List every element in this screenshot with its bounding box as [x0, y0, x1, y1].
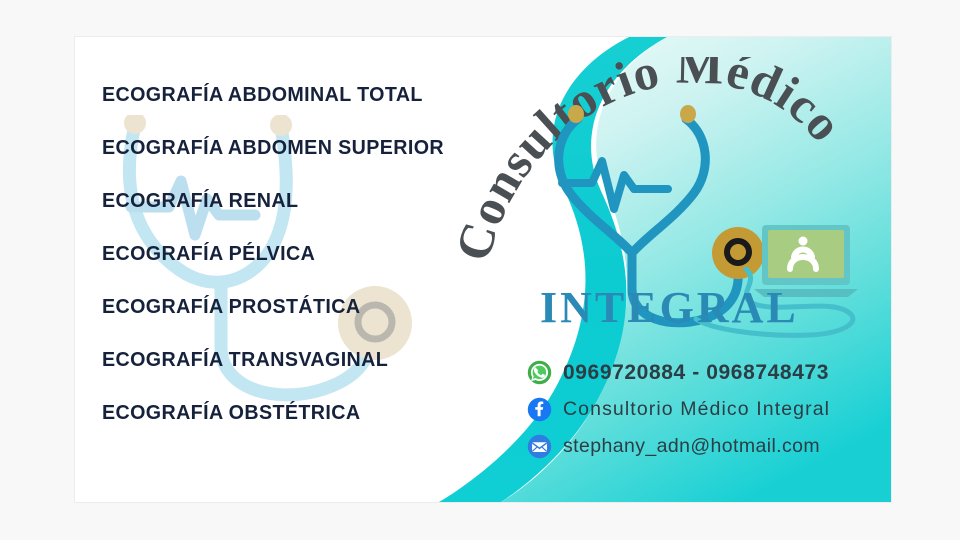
- service-item: ECOGRAFÍA OBSTÉTRICA: [102, 403, 486, 424]
- logo-graphic: Consultorio Médico: [460, 57, 880, 347]
- page-canvas: ECOGRAFÍA ABDOMINAL TOTAL ECOGRAFÍA ABDO…: [0, 0, 960, 540]
- contact-list: 0969720884 - 0968748473 Consultorio Médi…: [527, 359, 830, 470]
- earpiece-icon: [680, 105, 696, 123]
- contact-row-email[interactable]: stephany_adn@hotmail.com: [527, 433, 830, 460]
- contact-row-phone[interactable]: 0969720884 - 0968748473: [527, 359, 830, 386]
- service-item: ECOGRAFÍA PROSTÁTICA: [102, 297, 486, 318]
- service-item: ECOGRAFÍA TRANSVAGINAL: [102, 350, 486, 371]
- facebook-icon[interactable]: [527, 397, 552, 422]
- contact-email-text: stephany_adn@hotmail.com: [563, 435, 820, 458]
- contact-phone-text: 0969720884 - 0968748473: [563, 361, 829, 385]
- service-item: ECOGRAFÍA PÉLVICA: [102, 244, 486, 265]
- clinic-logo: Consultorio Médico: [460, 57, 880, 347]
- business-card: ECOGRAFÍA ABDOMINAL TOTAL ECOGRAFÍA ABDO…: [75, 37, 891, 502]
- services-list: ECOGRAFÍA ABDOMINAL TOTAL ECOGRAFÍA ABDO…: [102, 85, 502, 456]
- chestpiece-icon: [712, 227, 764, 279]
- service-item: ECOGRAFÍA ABDOMEN SUPERIOR: [102, 138, 486, 159]
- service-item: ECOGRAFÍA ABDOMINAL TOTAL: [102, 85, 486, 106]
- service-item: ECOGRAFÍA RENAL: [102, 191, 486, 212]
- email-icon[interactable]: [527, 434, 552, 459]
- whatsapp-icon[interactable]: [527, 360, 552, 385]
- contact-row-facebook[interactable]: Consultorio Médico Integral: [527, 396, 830, 423]
- contact-facebook-text: Consultorio Médico Integral: [563, 398, 830, 421]
- logo-wordmark: INTEGRAL: [540, 283, 799, 332]
- earpiece-icon: [568, 105, 584, 123]
